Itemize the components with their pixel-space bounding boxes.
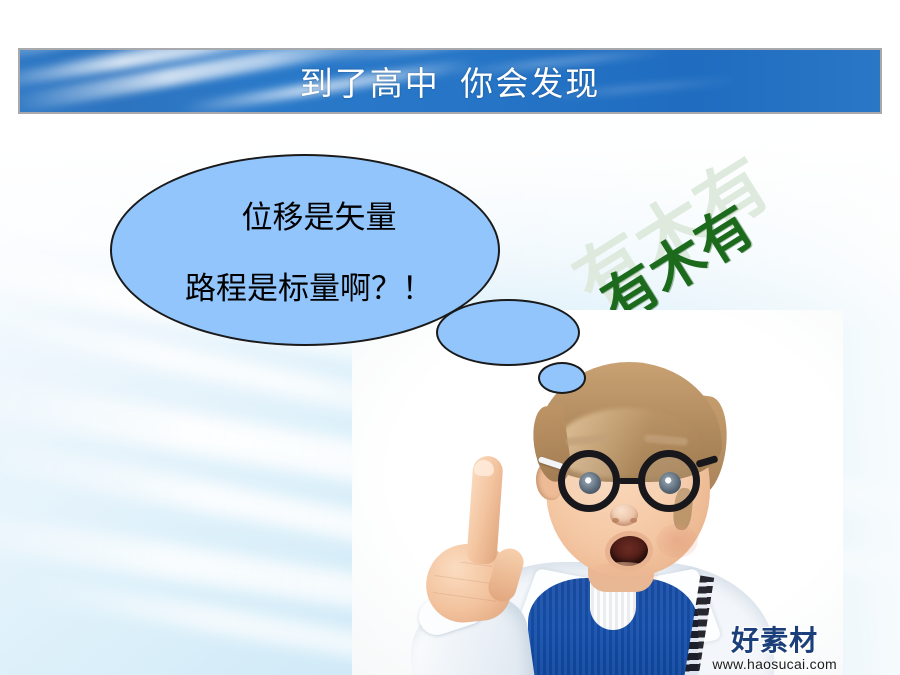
speech-bubble — [110, 154, 500, 346]
title-banner: 到了高中 你会发现 — [18, 48, 882, 114]
nostril-left — [612, 518, 619, 523]
boy-photo: 好素材 www.haosucai.com — [352, 310, 843, 675]
glasses-lens-right — [638, 450, 700, 512]
watermark-url: www.haosucai.com — [712, 657, 837, 671]
chin — [588, 562, 658, 588]
nostril-right — [630, 518, 637, 523]
boy-figure — [352, 310, 843, 675]
speech-bubble-tail-small — [538, 362, 586, 394]
watermark-logo-text: 好素材 — [712, 627, 837, 655]
cheek — [656, 524, 698, 558]
glasses-lens-left — [558, 450, 620, 512]
glasses-bridge — [618, 478, 642, 484]
watermark: 好素材 www.haosucai.com — [712, 627, 837, 671]
slogan-group: 有木有 有木有 — [548, 130, 808, 300]
slide-canvas: 到了高中 你会发现 有木有 有木有 — [0, 0, 900, 675]
slide-title: 到了高中 你会发现 — [20, 50, 880, 112]
vest-ribbing — [528, 578, 698, 675]
